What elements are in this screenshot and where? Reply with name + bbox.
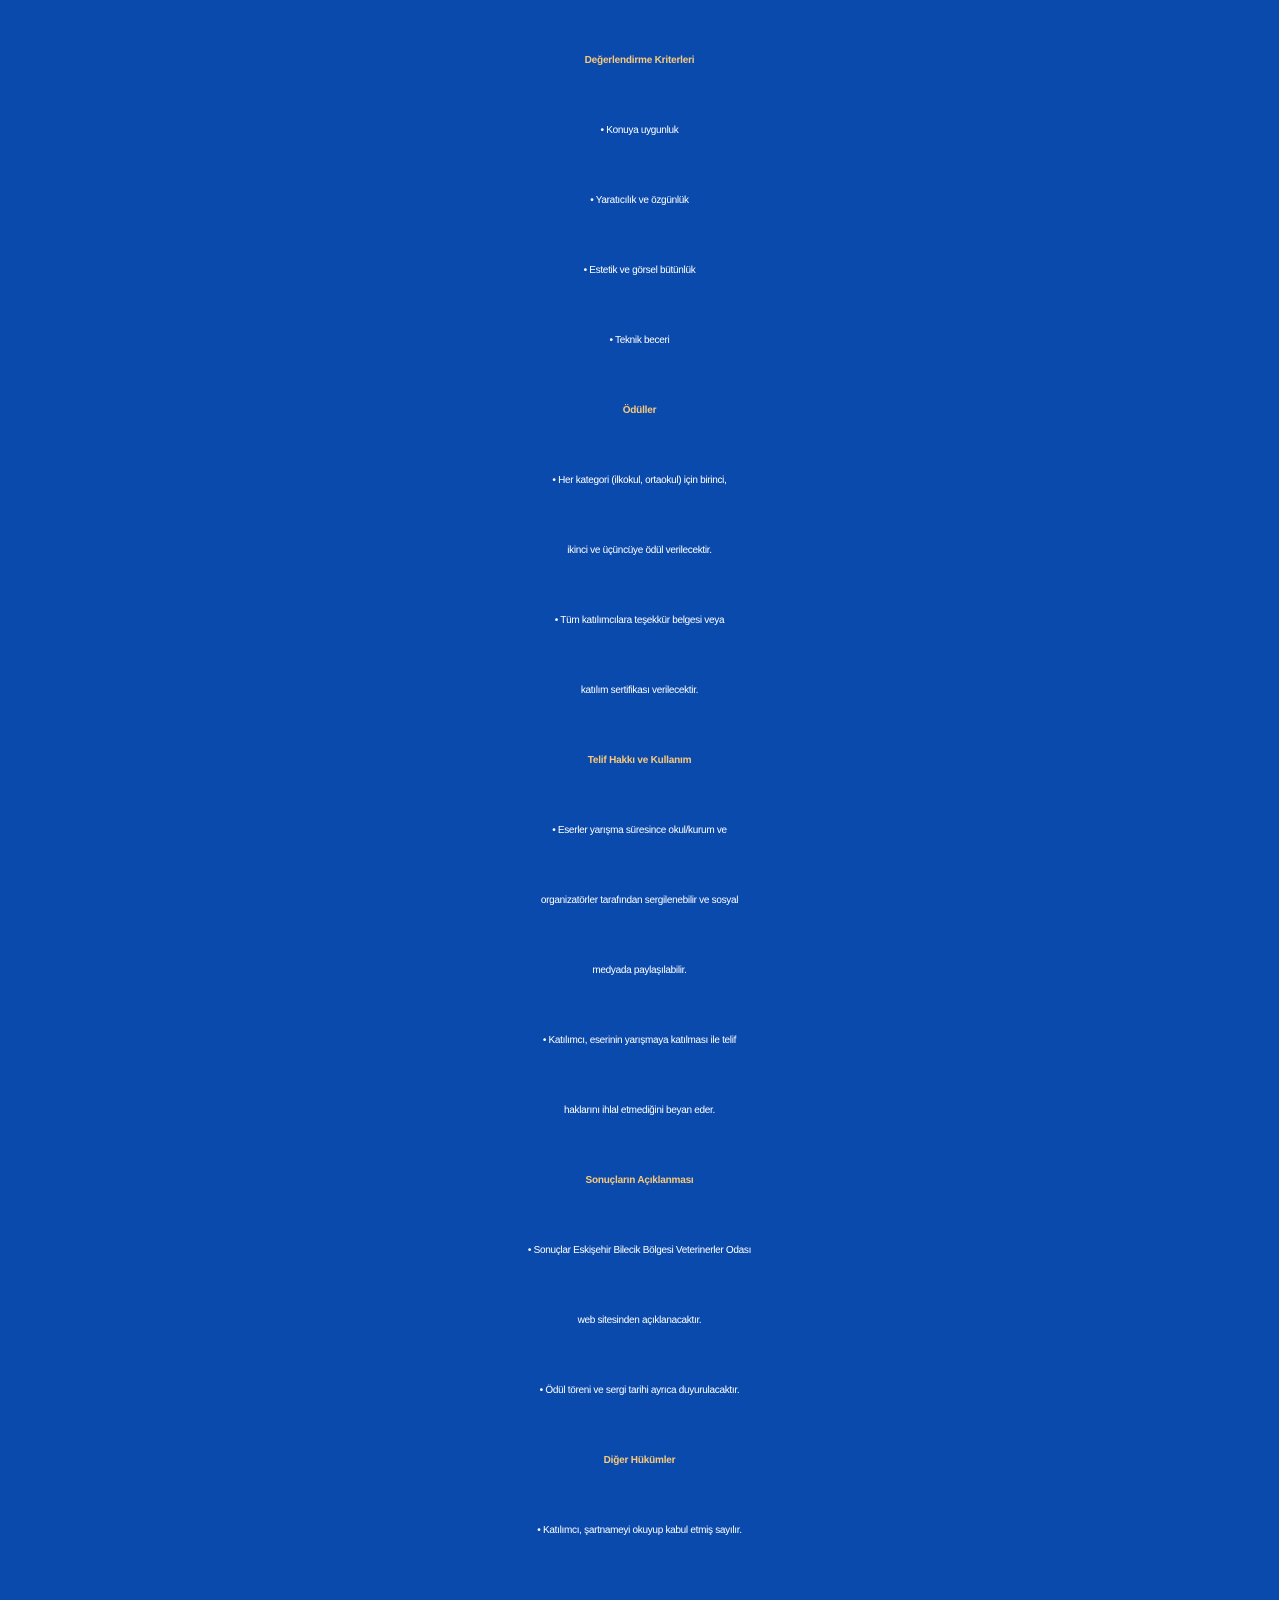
bullet-item-continuation: haklarını ihlal etmediğini beyan eder. [0,1076,1279,1146]
bullet-item-continuation: katılım sertifikası verilecektir. [0,656,1279,726]
bullet-item: • Katılımcı, eserinin yarışmaya katılmas… [0,1006,1279,1076]
section-heading-diger-hukumler: Diğer Hükümler [0,1426,1279,1496]
section-heading-sonuclarin-aciklanmasi: Sonuçların Açıklanması [0,1146,1279,1216]
section-heading-telif-hakki-ve-kullanim: Telif Hakkı ve Kullanım [0,726,1279,796]
section-telif-hakki-ve-kullanim: Telif Hakkı ve Kullanım • Eserler yarışm… [0,726,1279,1146]
bullet-item: • Yaratıcılık ve özgünlük [0,166,1279,236]
bullet-item-continuation: web sitesinden açıklanacaktır. [0,1286,1279,1356]
bullet-item-continuation: organizatörler tarafından sergilenebilir… [0,866,1279,936]
bullet-item: • Tüm katılımcılara teşekkür belgesi vey… [0,586,1279,656]
bullet-item-continuation: ikinci ve üçüncüye ödül verilecektir. [0,516,1279,586]
section-degerlendirme-kriterleri: Değerlendirme Kriterleri • Konuya uygunl… [0,26,1279,376]
bullet-item: • Konuya uygunluk [0,96,1279,166]
bullet-item: • Teknik beceri [0,306,1279,376]
bullet-item: • Estetik ve görsel bütünlük [0,236,1279,306]
bullet-item: • Her kategori (ilkokul, ortaokul) için … [0,446,1279,516]
poster-canvas: Değerlendirme Kriterleri • Konuya uygunl… [0,0,1279,1600]
section-heading-oduller: Ödüller [0,376,1279,446]
section-sonuclarin-aciklanmasi: Sonuçların Açıklanması • Sonuçlar Eskişe… [0,1146,1279,1426]
section-diger-hukumler: Diğer Hükümler • Katılımcı, şartnameyi o… [0,1426,1279,1566]
section-heading-degerlendirme-kriterleri: Değerlendirme Kriterleri [0,26,1279,96]
bullet-item: • Ödül töreni ve sergi tarihi ayrıca duy… [0,1356,1279,1426]
bullet-item-continuation: medyada paylaşılabilir. [0,936,1279,1006]
bullet-item: • Eserler yarışma süresince okul/kurum v… [0,796,1279,866]
bullet-item: • Katılımcı, şartnameyi okuyup kabul etm… [0,1496,1279,1566]
poster-content: Değerlendirme Kriterleri • Konuya uygunl… [0,26,1279,1566]
section-oduller: Ödüller • Her kategori (ilkokul, ortaoku… [0,376,1279,726]
bullet-item: • Sonuçlar Eskişehir Bilecik Bölgesi Vet… [0,1216,1279,1286]
